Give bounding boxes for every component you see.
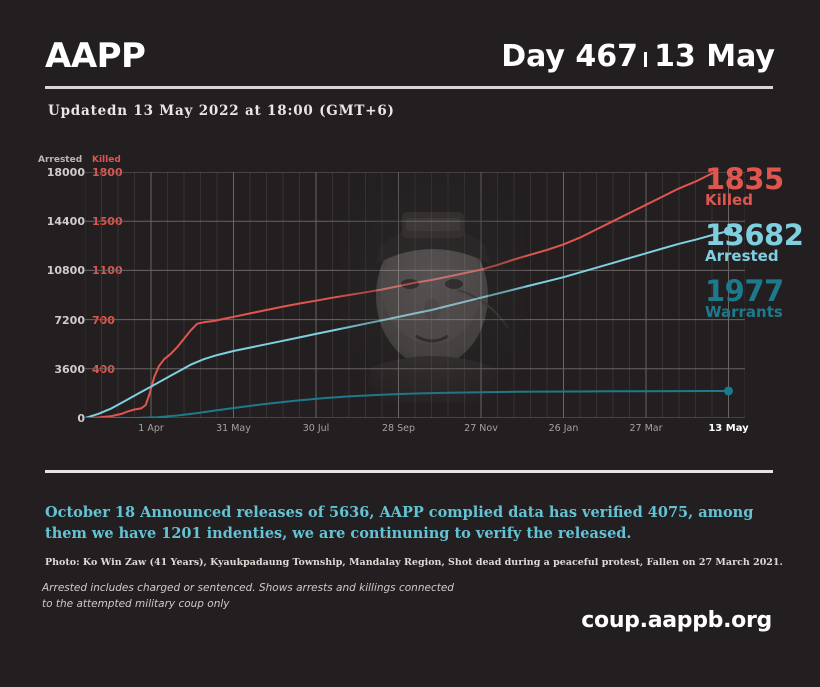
x-tick: 1 Apr bbox=[138, 423, 164, 434]
warrants-value: 1977 bbox=[705, 278, 784, 305]
callout-arrested: 13682 Arrested bbox=[705, 222, 803, 264]
x-tick: 30 Jul bbox=[303, 423, 330, 434]
footer-divider bbox=[45, 470, 773, 473]
y-tick-left: 10800 bbox=[47, 265, 85, 276]
arrested-value: 13682 bbox=[705, 222, 803, 249]
y-tick-left: 0 bbox=[77, 413, 85, 424]
day-number: Day 467 bbox=[501, 39, 638, 74]
header-divider bbox=[45, 86, 773, 89]
announcement-text: October 18 Announced releases of 5636, A… bbox=[45, 502, 775, 544]
victim-portrait-watermark bbox=[340, 172, 525, 403]
y-axis-title-arrested: Arrested bbox=[38, 155, 82, 165]
callout-killed: 1835 Killed bbox=[705, 166, 784, 208]
x-tick: 31 May bbox=[216, 423, 251, 434]
y-tick-left: 14400 bbox=[47, 216, 85, 227]
chart: Arrested Killed 036007200108001440018000… bbox=[36, 155, 776, 445]
x-tick: 27 Nov bbox=[464, 423, 498, 434]
killed-value: 1835 bbox=[705, 166, 784, 193]
header: AAPP Day 467 13 May bbox=[45, 28, 775, 84]
y-axis-title-killed: Killed bbox=[92, 155, 121, 165]
y-tick-left: 3600 bbox=[54, 364, 85, 375]
y-tick-left: 18000 bbox=[47, 167, 85, 178]
x-tick: 26 Jan bbox=[549, 423, 579, 434]
x-tick: 13 May bbox=[708, 423, 748, 434]
warrants-label: Warrants bbox=[705, 305, 784, 321]
photo-credit: Photo: Ko Win Zaw (41 Years), Kyaukpadau… bbox=[45, 557, 785, 568]
y-tick-left: 7200 bbox=[54, 315, 85, 326]
updated-timestamp: Updatedn 13 May 2022 at 18:00 (GMT+6) bbox=[48, 103, 395, 119]
infographic-poster: AAPP Day 467 13 May Updatedn 13 May 2022… bbox=[0, 0, 820, 687]
website-url[interactable]: coup.aappb.org bbox=[581, 608, 772, 633]
disclaimer-text: Arrested includes charged or sentenced. … bbox=[42, 580, 462, 613]
brand-title: AAPP bbox=[45, 36, 145, 76]
x-tick: 28 Sep bbox=[382, 423, 415, 434]
callout-warrants: 1977 Warrants bbox=[705, 278, 784, 320]
day-counter: Day 467 13 May bbox=[501, 39, 775, 74]
current-date: 13 May bbox=[654, 39, 775, 74]
x-tick: 27 Mar bbox=[629, 423, 662, 434]
plot-area bbox=[85, 172, 745, 418]
day-separator-icon bbox=[644, 52, 647, 67]
